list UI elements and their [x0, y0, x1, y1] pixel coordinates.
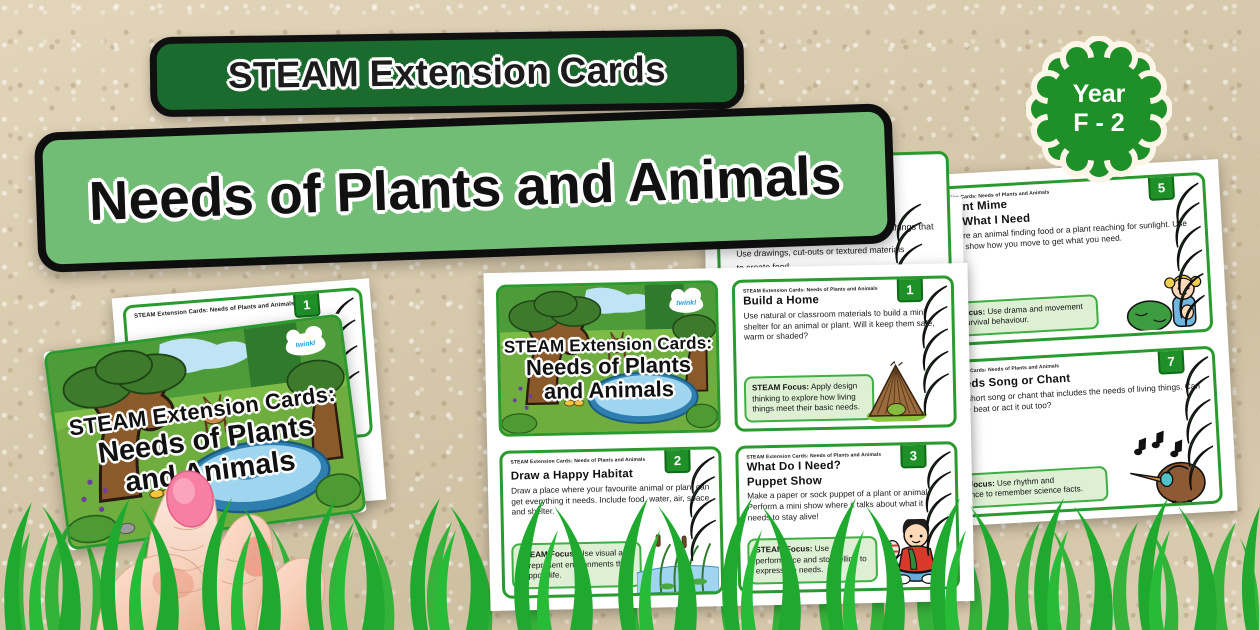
card-3-focus-label: STEAM Focus:	[755, 545, 812, 555]
card-2-steam-focus: STEAM Focus: Use visual art to represent…	[511, 541, 642, 589]
top-banner-text: STEAM Extension Cards	[228, 49, 667, 97]
cover-card-text: STEAM Extension Cards: Needs of Plants a…	[500, 333, 717, 406]
main-title-banner: Needs of Plants and Animals	[34, 103, 896, 273]
card-7-number-badge: 7	[1157, 347, 1184, 374]
card-1-steam-focus: STEAM Focus: Apply design thinking to ex…	[744, 374, 875, 422]
twinkl-logo-text: twinkl	[676, 300, 696, 307]
card-2-focus-label: STEAM Focus:	[519, 550, 576, 560]
card-2-body: Draw a place where your favourite animal…	[503, 480, 720, 518]
main-title-text: Needs of Plants and Animals	[88, 143, 843, 233]
top-banner: STEAM Extension Cards	[149, 29, 744, 117]
year-badge-label: Year F - 2	[1026, 36, 1172, 182]
card-5-art-child-and-bush	[1123, 265, 1204, 331]
year-badge-line1: Year	[1073, 80, 1126, 110]
card-3-art-child-with-puppet	[876, 518, 949, 585]
cover-card: STEAM Extension Cards: Needs of Plants a…	[496, 280, 721, 437]
card-1-duplicate-number-badge: 1	[293, 290, 321, 318]
printable-sheet-main: STEAM Extension Cards: Needs of Plants a…	[484, 263, 975, 611]
twinkl-logo: twinkl	[669, 294, 703, 314]
card-1-body: Use natural or classroom materials to bu…	[735, 305, 952, 343]
card-1-number-badge: 1	[897, 276, 924, 303]
card-1: STEAM Extension Cards: Needs of Plants a…	[732, 275, 957, 432]
card-1-art-shelter-hut	[862, 361, 929, 422]
card-1-focus-label: STEAM Focus:	[752, 383, 809, 393]
card-7-art-kiwi-bird-music	[1120, 427, 1216, 506]
card-2-number-badge: 2	[664, 447, 691, 474]
year-badge-line2: F - 2	[1073, 109, 1124, 139]
card-3: STEAM Extension Cards: Needs of Plants a…	[735, 441, 960, 594]
card-2-art-pond-reeds	[636, 525, 719, 593]
card-3-steam-focus: STEAM Focus: Use performance and storyte…	[747, 536, 878, 584]
card-2: STEAM Extension Cards: Needs of Plants a…	[499, 446, 724, 599]
cover-card-line3: and Animals	[501, 377, 717, 406]
cover-card-line2: Needs of Plants	[500, 352, 716, 381]
year-level-badge: Year F - 2	[1026, 36, 1172, 182]
held-cover-twinkl-logo-text: twinkl	[295, 339, 316, 349]
card-3-number-badge: 3	[900, 442, 927, 469]
hand-holding-card	[96, 455, 396, 630]
